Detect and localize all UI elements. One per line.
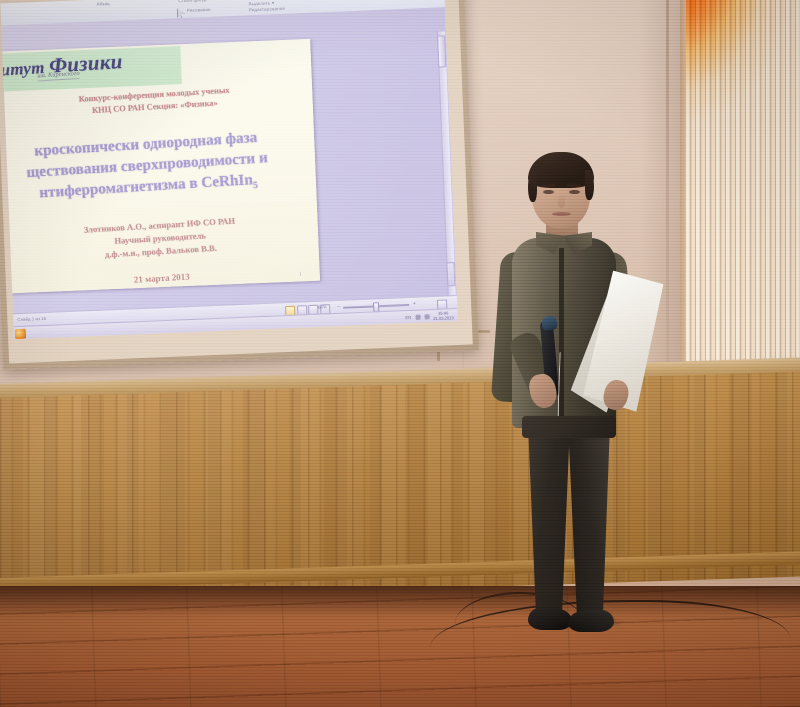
presenter-legs <box>520 420 616 626</box>
clock-date: 21.03.2013 <box>433 315 454 321</box>
presenter-eye-left <box>543 190 554 194</box>
system-tray: EN 15:00 21.03.2013 <box>405 310 454 322</box>
zoom-out-icon[interactable]: − <box>337 304 340 310</box>
status-slide-indicator: Слайд 1 из 16 <box>17 316 46 322</box>
tray-volume-icon[interactable] <box>424 314 429 319</box>
presenter-shoe-right <box>568 610 614 632</box>
presenter-leg-right <box>566 420 612 618</box>
scrollbar-thumb[interactable] <box>437 35 446 67</box>
slide-date: 21 марта 2013 <box>4 264 320 293</box>
ribbon-group-styles[interactable]: Стили фигур <box>178 0 207 3</box>
microphone-head <box>541 315 557 330</box>
presenter <box>486 152 666 672</box>
language-indicator[interactable]: EN <box>405 315 411 320</box>
presenter-eye-right <box>569 190 580 194</box>
ribbon-editing-label: Редактирование <box>249 6 285 12</box>
slide-title-formula-subscript: 5 <box>253 181 258 191</box>
presenter-leg-left <box>526 420 572 618</box>
powerpoint-workspace: ститут Физики им. Киренского Конкурс-кон… <box>1 7 457 315</box>
blinds-slat-lines <box>686 0 800 408</box>
presenter-nose <box>558 194 565 208</box>
conference-room-photo: Абзац Стили фигур Заменить ▾ Выделить ▾ … <box>0 0 800 707</box>
taskbar-clock[interactable]: 15:00 21.03.2013 <box>433 310 454 321</box>
presenter-mouth <box>552 212 571 216</box>
slide-title: кроскопически однородная фаза ществовани… <box>0 123 319 214</box>
presenter-shoe-left <box>528 608 572 630</box>
presenter-hair-right <box>585 170 594 200</box>
zoom-level-label[interactable]: 66% <box>318 304 327 309</box>
projected-desktop: Абзац Стили фигур Заменить ▾ Выделить ▾ … <box>0 0 457 339</box>
presentation-slide[interactable]: ститут Физики им. Киренского Конкурс-кон… <box>0 39 320 294</box>
scrollbar-arrows[interactable] <box>446 262 455 286</box>
window-with-blinds <box>686 0 800 408</box>
start-button-icon[interactable] <box>15 328 26 338</box>
ribbon-select-button[interactable]: Выделить ▾ <box>248 0 274 6</box>
ribbon-group-editing-items[interactable]: Заменить ▾ Выделить ▾ Редактирование <box>248 0 285 14</box>
presenter-waistband <box>522 416 616 438</box>
mouse-cursor-icon <box>177 8 185 18</box>
tray-network-icon[interactable] <box>415 314 420 319</box>
slide-authors: Злотников А.О., аспирант ИФ СО РАН Научн… <box>1 210 319 268</box>
zoom-in-icon[interactable]: + <box>413 301 416 307</box>
slide-page-number: 1 <box>299 271 302 277</box>
projection-screen: Абзац Стили фигур Заменить ▾ Выделить ▾ … <box>0 0 479 370</box>
presenter-hair-left <box>528 170 537 202</box>
ribbon-group-drawing: Рисование <box>187 7 211 13</box>
ribbon-group-paragraph[interactable]: Абзац <box>96 1 110 7</box>
